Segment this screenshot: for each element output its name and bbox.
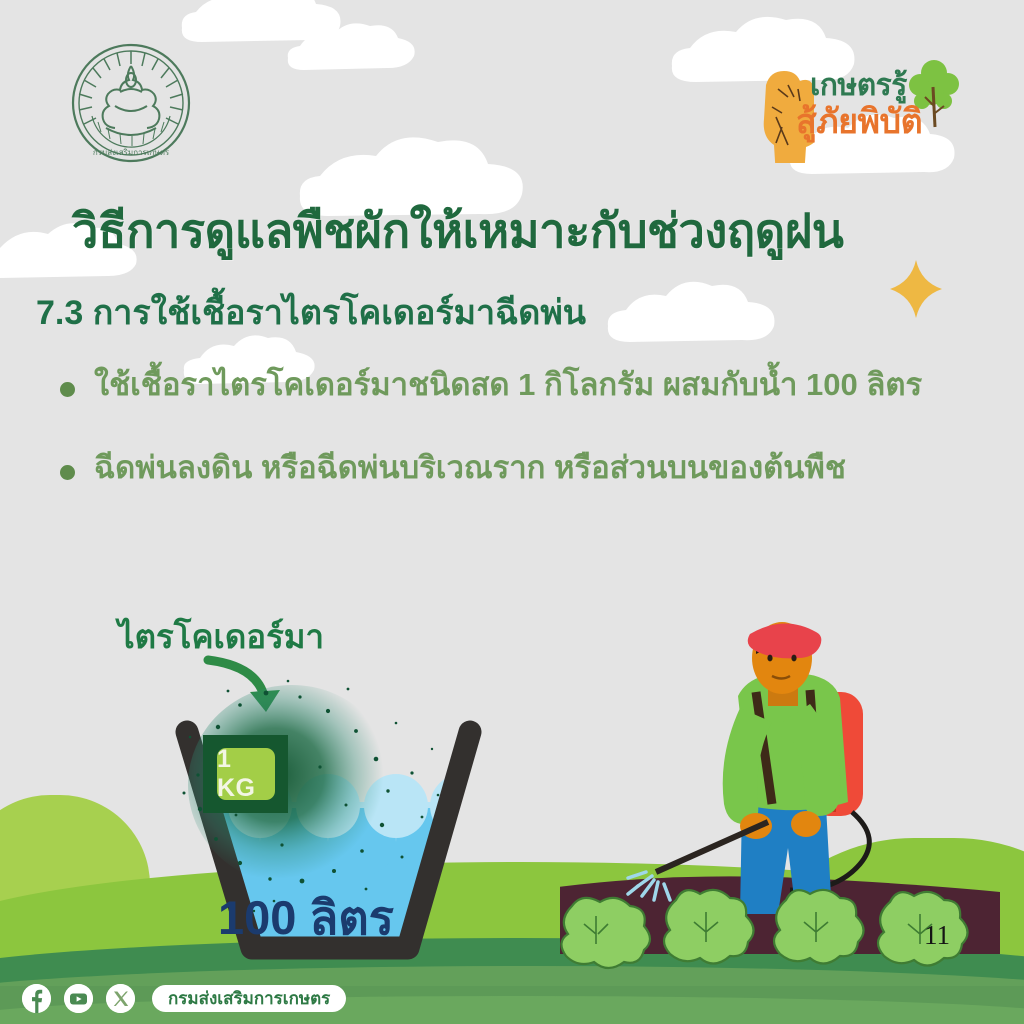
- page-number: 11: [924, 920, 950, 951]
- bullet-text: ฉีดพ่นลงดิน หรือฉีดพ่นบริเวณราก หรือส่วน…: [94, 449, 846, 488]
- facebook-icon[interactable]: [22, 984, 51, 1013]
- list-item: ฉีดพ่นลงดิน หรือฉีดพ่นบริเวณราก หรือส่วน…: [60, 449, 1010, 488]
- bullet-marker: [60, 465, 75, 480]
- brand-line-1: เกษตรรู้: [810, 71, 907, 101]
- liters-label: 100 ลิตร: [218, 880, 518, 955]
- page-title: วิธีการดูแลพืชผักให้เหมาะกับช่วงฤดูฝน: [72, 193, 972, 268]
- section-subtitle: 7.3 การใช้เชื้อราไตรโคเดอร์มาฉีดพ่น: [36, 285, 936, 339]
- poster-canvas: กรมส่งเสริมการเกษตร เกษตรรู้ สู้ภัยพิบัต…: [0, 0, 1024, 1024]
- youtube-icon[interactable]: [64, 984, 93, 1013]
- kg-badge-backdrop: 1 KG: [203, 735, 288, 813]
- brand-line-2: สู้ภัยพิบัติ: [796, 105, 922, 139]
- campaign-logo: เกษตรรู้ สู้ภัยพิบัติ: [752, 55, 964, 163]
- org-name-pill: กรมส่งเสริมการเกษตร: [152, 985, 346, 1012]
- x-twitter-icon[interactable]: [106, 984, 135, 1013]
- svg-text:กรมส่งเสริมการเกษตร: กรมส่งเสริมการเกษตร: [93, 148, 170, 157]
- bullet-text: ใช้เชื้อราไตรโคเดอร์มาชนิดสด 1 กิโลกรัม …: [94, 366, 922, 405]
- mixing-illustration: ไตรโคเดอร์มา: [140, 600, 540, 1000]
- kg-badge: 1 KG: [217, 748, 275, 800]
- social-bar: กรมส่งเสริมการเกษตร: [22, 984, 346, 1013]
- kg-badge-label: 1 KG: [217, 745, 275, 803]
- list-item: ใช้เชื้อราไตรโคเดอร์มาชนิดสด 1 กิโลกรัม …: [60, 366, 1010, 405]
- bullet-marker: [60, 382, 75, 397]
- farmer-spraying-illustration: [560, 600, 1024, 1000]
- seal-department-of-agricultural-extension: กรมส่งเสริมการเกษตร: [68, 40, 194, 166]
- farmer-right-hand: [791, 811, 821, 837]
- sparkle-icon: [888, 258, 944, 320]
- org-name-label: กรมส่งเสริมการเกษตร: [168, 985, 330, 1012]
- bullet-list: ใช้เชื้อราไตรโคเดอร์มาชนิดสด 1 กิโลกรัม …: [60, 366, 1010, 532]
